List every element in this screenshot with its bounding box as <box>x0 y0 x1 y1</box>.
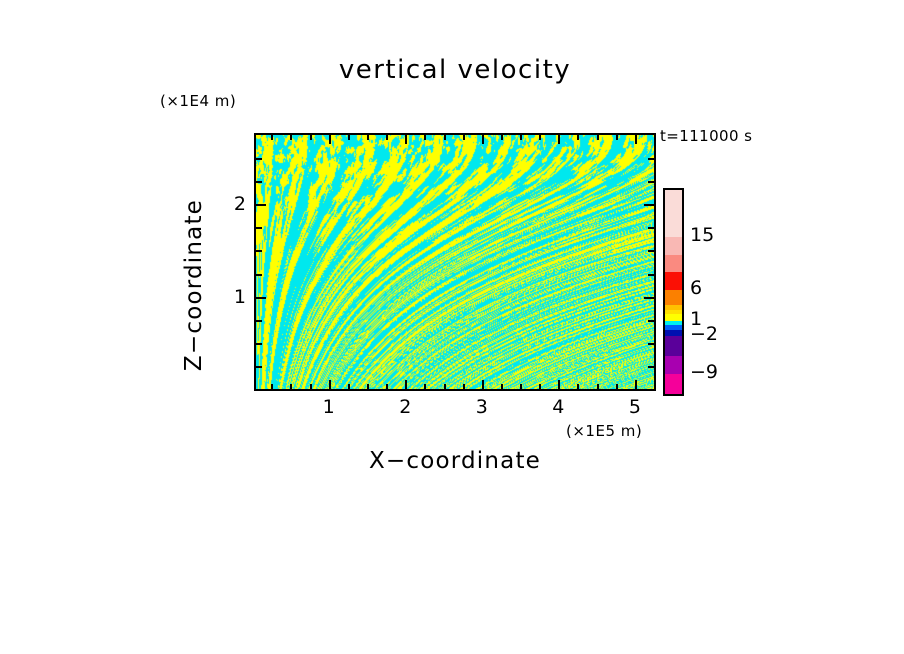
x-minor-tick-top <box>444 135 446 140</box>
x-minor-tick <box>386 384 388 389</box>
x-minor-tick-top <box>348 135 350 140</box>
colorbar-band <box>665 237 682 255</box>
x-tick-label: 5 <box>629 396 641 418</box>
chart-title: vertical velocity <box>254 55 656 85</box>
y-minor-tick <box>256 181 262 183</box>
x-minor-tick <box>424 384 426 389</box>
x-major-tick-top <box>635 135 637 144</box>
figure-root: vertical velocity (×1E4 m) t=111000 s 12… <box>0 0 904 654</box>
x-minor-tick-top <box>577 135 579 140</box>
x-minor-tick-top <box>424 135 426 140</box>
x-minor-tick <box>577 384 579 389</box>
x-major-tick-top <box>558 135 560 144</box>
colorbar-band <box>665 255 682 272</box>
x-minor-tick <box>616 384 618 389</box>
x-minor-tick <box>539 384 541 389</box>
x-major-tick <box>558 380 560 389</box>
y-minor-tick <box>256 158 262 160</box>
y-tick-label: 1 <box>222 286 246 308</box>
y-minor-tick-right <box>648 366 654 368</box>
x-minor-tick <box>348 384 350 389</box>
x-minor-tick <box>444 384 446 389</box>
colorbar-band <box>665 374 682 394</box>
x-tick-label: 2 <box>399 396 411 418</box>
x-minor-tick-top <box>520 135 522 140</box>
colorbar-tick-label: 15 <box>690 224 714 246</box>
x-minor-tick-top <box>539 135 541 140</box>
y-minor-tick-right <box>648 274 654 276</box>
colorbar-tick-label: 6 <box>690 277 702 299</box>
x-minor-tick-top <box>463 135 465 140</box>
x-minor-tick <box>310 384 312 389</box>
y-major-tick <box>256 204 266 206</box>
x-minor-tick-top <box>367 135 369 140</box>
y-minor-tick <box>256 366 262 368</box>
x-minor-tick-top <box>290 135 292 140</box>
colorbar-band <box>665 272 682 290</box>
y-minor-tick-right <box>648 181 654 183</box>
colorbar <box>663 188 684 396</box>
colorbar-band <box>665 336 682 355</box>
x-major-tick <box>635 380 637 389</box>
y-minor-tick <box>256 343 262 345</box>
colorbar-tick-label: −2 <box>690 323 718 345</box>
y-minor-tick <box>256 250 262 252</box>
x-minor-tick <box>520 384 522 389</box>
y-minor-tick-right <box>648 320 654 322</box>
x-minor-tick <box>290 384 292 389</box>
plot-area <box>254 133 656 391</box>
x-major-tick <box>405 380 407 389</box>
x-minor-tick <box>463 384 465 389</box>
x-tick-label: 1 <box>323 396 335 418</box>
x-axis-unit-label: (×1E5 m) <box>566 422 642 440</box>
y-minor-tick <box>256 320 262 322</box>
time-annotation: t=111000 s <box>660 127 752 145</box>
colorbar-band <box>665 356 682 374</box>
y-minor-tick <box>256 274 262 276</box>
colorbar-band <box>665 314 682 322</box>
x-tick-label: 4 <box>552 396 564 418</box>
x-major-tick <box>482 380 484 389</box>
x-tick-label: 3 <box>476 396 488 418</box>
colorbar-band <box>665 290 682 305</box>
x-minor-tick <box>367 384 369 389</box>
x-axis-title: X−coordinate <box>254 448 656 474</box>
x-minor-tick-top <box>597 135 599 140</box>
heatmap-canvas <box>256 135 654 389</box>
x-major-tick-top <box>329 135 331 144</box>
y-axis-title: Z−coordinate <box>181 0 211 160</box>
x-major-tick-top <box>482 135 484 144</box>
x-minor-tick <box>501 384 503 389</box>
y-tick-label: 2 <box>222 193 246 215</box>
colorbar-tick-label: −9 <box>690 361 718 383</box>
y-major-tick-right <box>644 204 654 206</box>
x-minor-tick-top <box>271 135 273 140</box>
x-minor-tick <box>271 384 273 389</box>
y-major-tick <box>256 297 266 299</box>
x-minor-tick-top <box>501 135 503 140</box>
x-minor-tick-top <box>310 135 312 140</box>
y-minor-tick-right <box>648 250 654 252</box>
colorbar-band <box>665 190 682 237</box>
x-minor-tick <box>597 384 599 389</box>
y-minor-tick-right <box>648 227 654 229</box>
x-minor-tick-top <box>386 135 388 140</box>
y-minor-tick-right <box>648 343 654 345</box>
x-major-tick <box>329 380 331 389</box>
y-major-tick-right <box>644 297 654 299</box>
y-minor-tick-right <box>648 158 654 160</box>
x-minor-tick-top <box>616 135 618 140</box>
y-minor-tick <box>256 227 262 229</box>
x-major-tick-top <box>405 135 407 144</box>
y-axis-title-text: Z−coordinate <box>181 160 207 410</box>
